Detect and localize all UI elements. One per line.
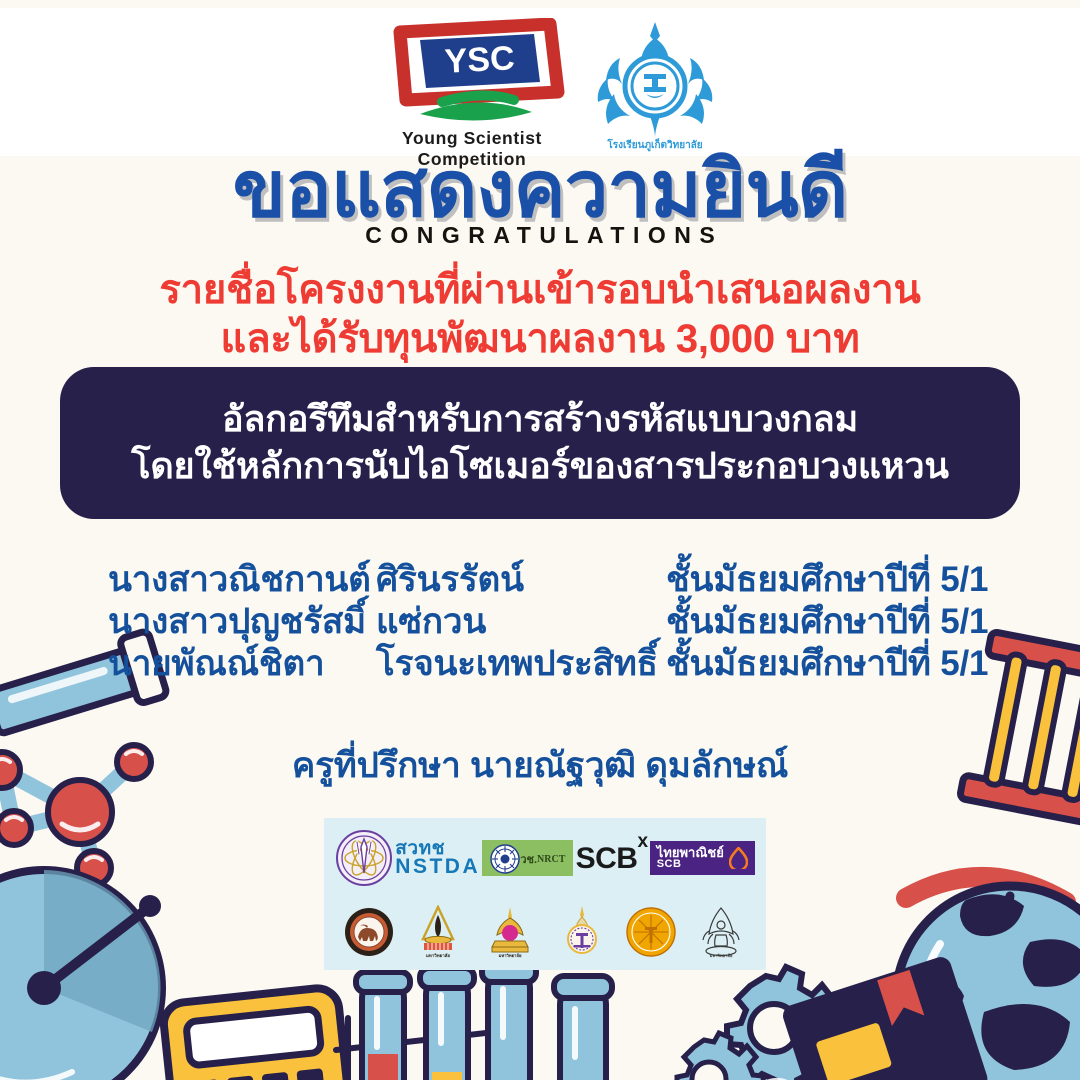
- congratulations-poster: YSC Young Scientist Competition: [0, 0, 1080, 1080]
- nrct-seal-icon: [490, 844, 520, 874]
- student-name: นายพัณณ์ชิตา: [108, 636, 376, 691]
- test-tubes-icon: [330, 962, 630, 1080]
- table-row: นางสาวปุญชรัสมิ์ แซ่กวน ชั้นมัธยมศึกษาปี…: [108, 594, 988, 636]
- advisor-line: ครูที่ปรึกษา นายณัฐวุฒิ ดุมลักษณ์: [0, 738, 1080, 793]
- svg-text:มหาวิทยาลัย: มหาวิทยาลัย: [710, 953, 733, 958]
- sponsor-seal-buddha-gold: มหาวิทยาลัย: [413, 905, 463, 959]
- project-title-line-2: โดยใช้หลักการนับไอโซเมอร์ของสารประกอบวงแ…: [131, 443, 949, 490]
- scb-superscript: x: [637, 831, 647, 852]
- student-surname: โรจนะเทพประสิทธิ์: [376, 636, 666, 691]
- svg-text:มหาวิทยาลัย: มหาวิทยาลัย: [499, 953, 522, 958]
- scb-label: SCB: [576, 842, 638, 875]
- sponsor-seal-orange-sun: [626, 907, 676, 957]
- sponsor-seal-deity-line: มหาวิทยาลัย: [696, 905, 746, 959]
- sponsor-nrct: วช. NRCT: [482, 840, 573, 876]
- svg-text:YSC: YSC: [444, 39, 516, 81]
- congratulations-subtitle: CONGRATULATIONS: [0, 222, 1080, 249]
- nrct-label-en: NRCT: [537, 854, 565, 865]
- page-title: ขอแสดงความยินดี: [0, 150, 1080, 228]
- svg-text:มหาวิทยาลัย: มหาวิทยาลัย: [427, 952, 451, 958]
- school-emblem-icon: โรงเรียนภูเก็ตวิทยาลัย: [592, 20, 718, 156]
- announcement-subtitle: รายชื่อโครงงานที่ผ่านเข้ารอบนำเสนอผลงาน …: [0, 266, 1080, 364]
- sponsor-strip: สวทช NSTDA วช. NRC: [324, 818, 766, 970]
- nstda-label-en: NSTDA: [395, 857, 480, 876]
- header-logo-row: YSC Young Scientist Competition: [0, 8, 1080, 156]
- announcement-line-1: รายชื่อโครงงานที่ผ่านเข้ารอบนำเสนอผลงาน: [0, 266, 1080, 315]
- sponsor-scb: SCBx: [576, 841, 648, 876]
- sponsor-nstda: สวทช NSTDA: [395, 840, 480, 877]
- sponsor-seal-spire-purple: [557, 905, 607, 959]
- announcement-line-2: และได้รับทุนพัฒนาผลงาน 3,000 บาท: [0, 315, 1080, 364]
- calculator-icon: [162, 988, 372, 1080]
- sponsor-seal-pagoda-pink: มหาวิทยาลัย: [483, 905, 537, 959]
- satellite-dish-icon: [0, 860, 234, 1080]
- table-row: นายพัณณ์ชิตา โรจนะเทพประสิทธิ์ ชั้นมัธยม…: [108, 636, 988, 678]
- student-class: ชั้นมัธยมศึกษาปีที่ 5/1: [666, 636, 988, 691]
- sponsor-row-universities: มหาวิทยาลัย มหาวิทยาลัย: [334, 898, 756, 966]
- gears-icon: [648, 968, 888, 1080]
- globe-icon: [900, 860, 1080, 1080]
- student-list: นางสาวณิชกานต์ ศิรินรรัตน์ ชั้นมัธยมศึกษ…: [108, 552, 988, 678]
- table-row: นางสาวณิชกานต์ ศิรินรรัตน์ ชั้นมัธยมศึกษ…: [108, 552, 988, 594]
- project-title-box: อัลกอรึทึมสำหรับการสร้างรหัสแบบวงกลม โดย…: [60, 367, 1020, 519]
- nrct-label-th: วช.: [520, 850, 537, 868]
- project-title-line-1: อัลกอรึทึมสำหรับการสร้างรหัสแบบวงกลม: [222, 396, 858, 443]
- scb-leaf-icon: [729, 847, 748, 869]
- ysc-logo-icon: YSC: [362, 18, 582, 122]
- sponsor-scb-thai-chip: ไทยพาณิชย์ SCB: [650, 841, 755, 875]
- sponsor-seal-purple-trident: [335, 829, 393, 887]
- sponsor-row-agencies: สวทช NSTDA วช. NRC: [334, 824, 756, 892]
- molecule-icon: [0, 700, 212, 890]
- sponsor-seal-elephant: [344, 907, 394, 957]
- book-icon: [790, 960, 1000, 1080]
- scb-chip-label-en: SCB: [657, 859, 724, 870]
